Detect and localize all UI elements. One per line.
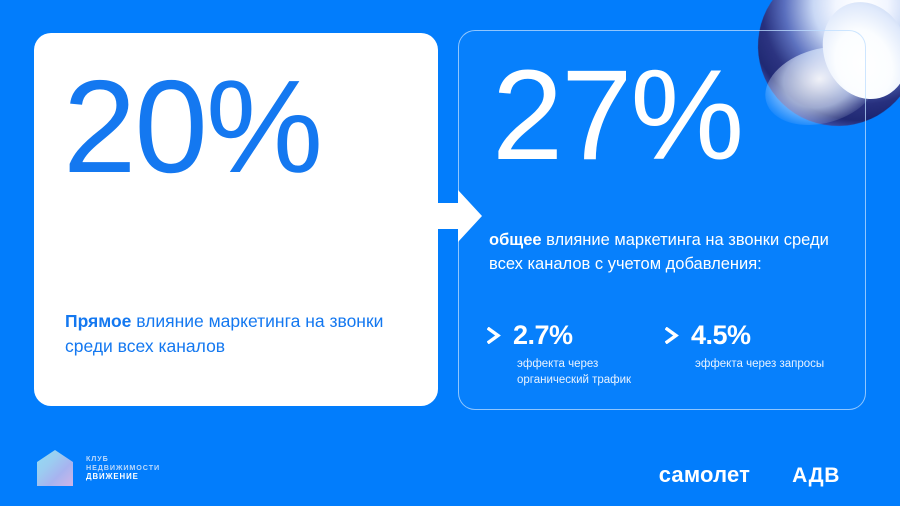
substat-label: эффекта через запросы [695, 357, 843, 373]
logo-line-3: ДВИЖЕНИЕ [86, 472, 160, 482]
chevron-right-icon [487, 327, 502, 344]
left-caption-bold: Прямое [65, 311, 131, 331]
left-stat-card: 20% Прямое влияние маркетинга на звонки … [34, 33, 438, 406]
left-stat-caption: Прямое влияние маркетинга на звонки сред… [65, 309, 405, 359]
brand-adv: АДВ [792, 464, 840, 488]
house-logo-icon [33, 446, 77, 490]
slide-root: 20% Прямое влияние маркетинга на звонки … [0, 0, 900, 506]
substat-value: 4.5% [691, 322, 751, 349]
substat-header: 2.7% [487, 322, 665, 349]
arrow-right-icon [432, 190, 482, 242]
substat-group: 2.7% эффекта через органический трафик 4… [487, 322, 857, 388]
substat-item-queries: 4.5% эффекта через запросы [665, 322, 843, 388]
substat-header: 4.5% [665, 322, 843, 349]
right-stat-value: 27% [492, 52, 742, 180]
right-stat-caption: общее влияние маркетинга на звонки среди… [489, 228, 829, 277]
substat-value: 2.7% [513, 322, 573, 349]
substat-item-organic: 2.7% эффекта через органический трафик [487, 322, 665, 388]
chevron-right-icon [665, 327, 680, 344]
brand-samolet: самолет [659, 462, 750, 488]
logo-text-block: КЛУБ НЕДВИЖИМОСТИ ДВИЖЕНИЕ [86, 454, 160, 483]
brand-group: самолет АДВ [659, 462, 840, 488]
logo-line-2: НЕДВИЖИМОСТИ [86, 463, 160, 472]
club-logo: КЛУБ НЕДВИЖИМОСТИ ДВИЖЕНИЕ [33, 446, 160, 490]
logo-line-1: КЛУБ [86, 454, 160, 463]
left-stat-value: 20% [63, 61, 321, 193]
right-caption-bold: общее [489, 231, 542, 249]
substat-label: эффекта через органический трафик [517, 357, 665, 388]
